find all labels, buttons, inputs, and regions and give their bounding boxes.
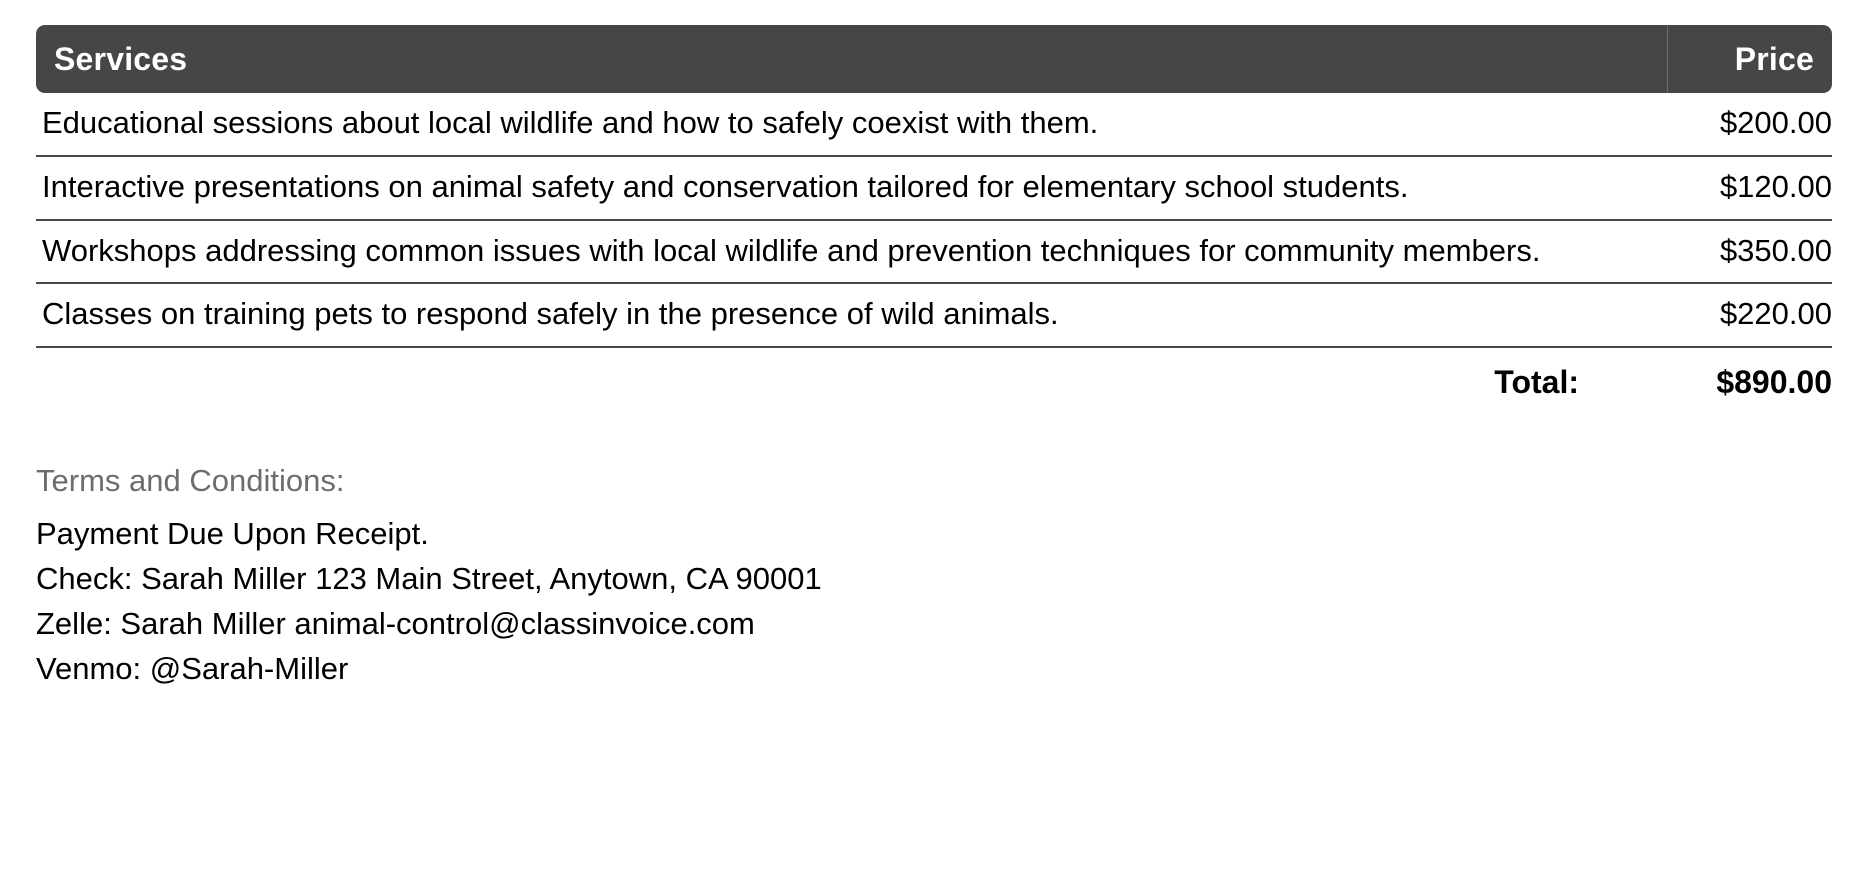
- table-row: Workshops addressing common issues with …: [36, 220, 1832, 284]
- column-header-services: Services: [36, 25, 1667, 93]
- table-footer: Total: $890.00: [36, 347, 1832, 411]
- table-row: Interactive presentations on animal safe…: [36, 156, 1832, 220]
- total-value: $890.00: [1667, 347, 1832, 411]
- service-price: $350.00: [1667, 220, 1832, 284]
- service-description: Educational sessions about local wildlif…: [36, 93, 1667, 156]
- service-description: Interactive presentations on animal safe…: [36, 156, 1667, 220]
- terms-heading: Terms and Conditions:: [36, 459, 1832, 504]
- services-price-table: Services Price Educational sessions abou…: [36, 25, 1832, 411]
- service-description: Classes on training pets to respond safe…: [36, 283, 1667, 347]
- invoice-sheet: Services Price Educational sessions abou…: [0, 0, 1868, 870]
- service-description: Workshops addressing common issues with …: [36, 220, 1667, 284]
- table-header: Services Price: [36, 25, 1832, 93]
- column-header-price: Price: [1667, 25, 1832, 93]
- total-row: Total: $890.00: [36, 347, 1832, 411]
- table-row: Classes on training pets to respond safe…: [36, 283, 1832, 347]
- terms-line-payment-due: Payment Due Upon Receipt.: [36, 512, 1832, 557]
- terms-line-venmo: Venmo: @Sarah-Miller: [36, 647, 1832, 692]
- terms-line-zelle: Zelle: Sarah Miller animal-control@class…: [36, 602, 1832, 647]
- table-header-row: Services Price: [36, 25, 1832, 93]
- table-row: Educational sessions about local wildlif…: [36, 93, 1832, 156]
- service-price: $220.00: [1667, 283, 1832, 347]
- service-price: $200.00: [1667, 93, 1832, 156]
- total-label: Total:: [36, 347, 1667, 411]
- terms-and-conditions-section: Terms and Conditions: Payment Due Upon R…: [36, 459, 1832, 692]
- service-price: $120.00: [1667, 156, 1832, 220]
- table-body: Educational sessions about local wildlif…: [36, 93, 1832, 347]
- terms-line-check: Check: Sarah Miller 123 Main Street, Any…: [36, 557, 1832, 602]
